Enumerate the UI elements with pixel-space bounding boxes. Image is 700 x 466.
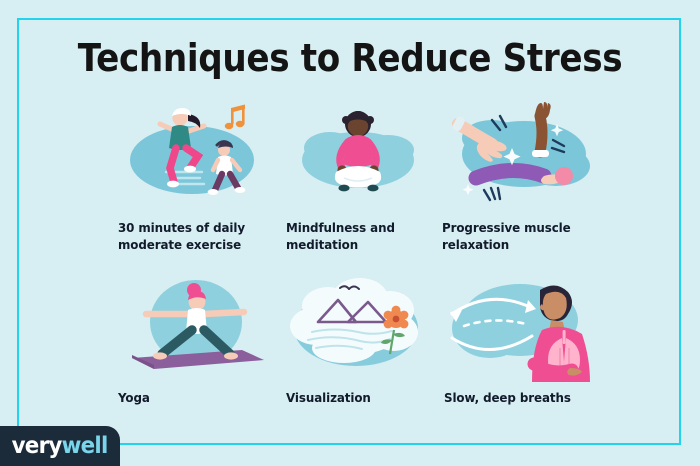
technique-card-muscle-relaxation — [440, 98, 600, 206]
page-title: Techniques to Reduce Stress — [35, 36, 665, 80]
logo-text-very: very — [12, 433, 62, 459]
techniques-grid: 30 minutes of daily moderate exercise — [100, 98, 610, 428]
technique-card-yoga — [118, 270, 278, 378]
illustration-cloud-scene-mountains-birds-water-flower — [278, 270, 438, 378]
technique-caption-muscle-relaxation: Progressive muscle relaxation — [442, 220, 571, 253]
technique-card-exercise — [114, 98, 274, 206]
logo-wordmark: verywell — [12, 433, 108, 459]
logo-text-well: well — [62, 433, 108, 459]
verywell-logo[interactable]: verywell — [0, 426, 120, 466]
illustration-arms-and-leg-muscle-tension-marks — [440, 98, 600, 206]
illustration-two-people-running-exercise-with-music-note — [114, 98, 274, 206]
technique-card-deep-breaths — [436, 264, 596, 372]
technique-caption-visualization: Visualization — [286, 390, 371, 407]
technique-caption-mindfulness: Mindfulness and meditation — [286, 220, 395, 253]
technique-card-visualization — [278, 270, 438, 378]
technique-caption-yoga: Yoga — [118, 390, 150, 407]
illustration-person-warrior-pose-on-yoga-mat — [118, 270, 278, 378]
illustration-person-breathing-with-lungs-and-arrows — [436, 264, 596, 372]
illustration-person-meditating-cross-legged — [284, 102, 444, 210]
technique-card-mindfulness — [284, 102, 444, 210]
technique-caption-exercise: 30 minutes of daily moderate exercise — [118, 220, 245, 253]
infographic-canvas: Techniques to Reduce Stress — [0, 0, 700, 466]
technique-caption-deep-breaths: Slow, deep breaths — [444, 390, 571, 407]
